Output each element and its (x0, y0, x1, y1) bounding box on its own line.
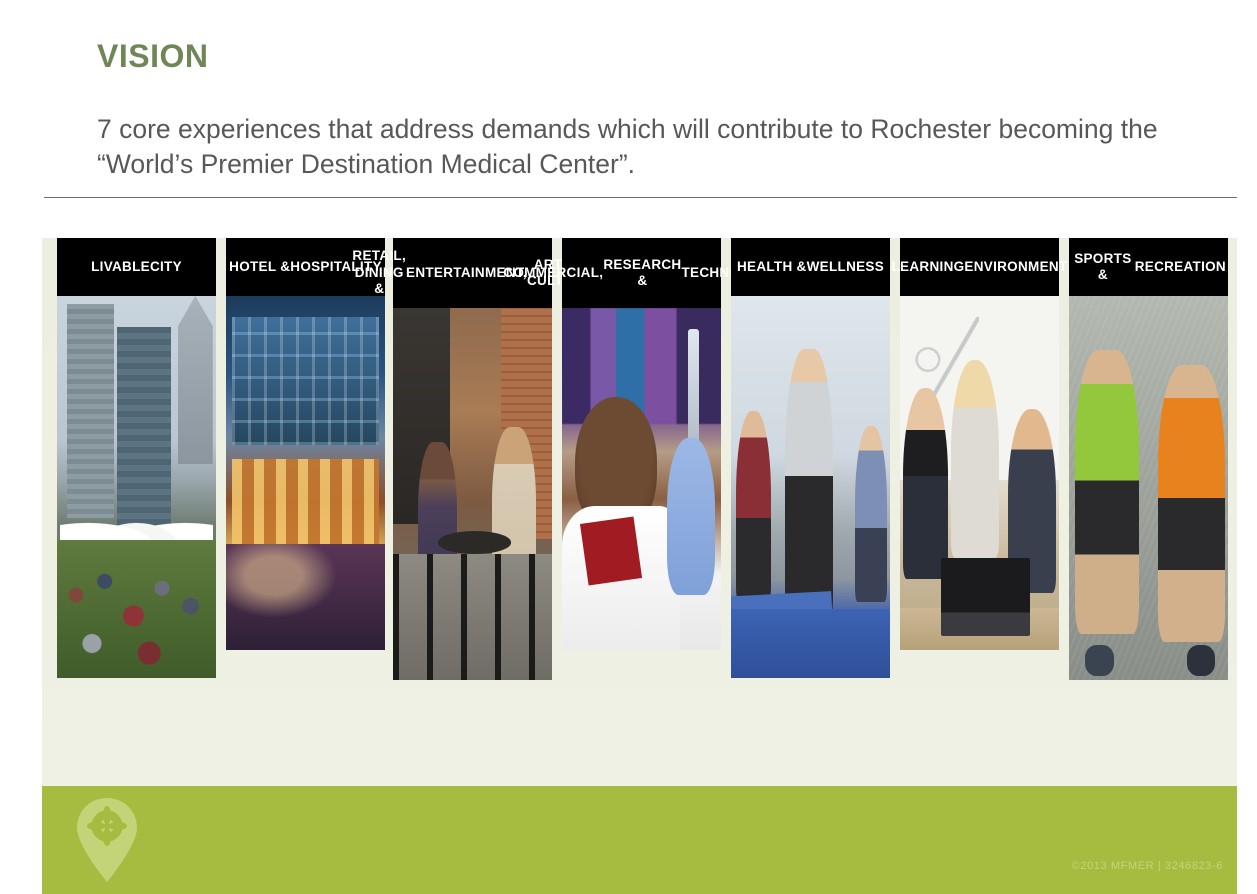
page-subtitle: 7 core experiences that address demands … (97, 112, 1227, 182)
column-header-livable-city: LIVABLE CITY (57, 238, 216, 296)
experience-column-health-wellness[interactable]: HEALTH & WELLNESS (731, 238, 890, 678)
column-label-line-1: HOTEL & (229, 259, 290, 276)
map-pin-flower-logo-icon (74, 796, 140, 884)
experience-column-learning-environment[interactable]: LEARNING ENVIRONMENT (900, 238, 1059, 650)
experience-column-hotel-hospitality[interactable]: HOTEL & HOSPITALITY (226, 238, 385, 650)
experience-column-livable-city[interactable]: LIVABLE CITY (57, 238, 216, 678)
slide-canvas: VISION 7 core experiences that address d… (0, 0, 1257, 894)
column-label-line-1: LEARNING (892, 259, 965, 276)
column-image-livable-city (57, 296, 216, 678)
column-image-health-wellness (731, 296, 890, 678)
column-label-line-2: RESEARCH & (603, 257, 681, 290)
header-block: VISION 7 core experiences that address d… (0, 0, 1257, 200)
vision-panel: LIVABLE CITY HOTEL & HOSPITALITY (42, 238, 1237, 786)
header-divider-rule (44, 197, 1237, 198)
column-label-line-2: WELLNESS (807, 259, 884, 276)
experience-column-commercial-research[interactable]: COMMERCIAL, RESEARCH & TECHNOLOGY (562, 238, 721, 650)
copyright-credit: ©2013 MFMER | 3246823-6 (1072, 860, 1223, 872)
column-label-line-2: ENVIRONMENT (964, 259, 1067, 276)
column-label-line-1: LIVABLE (91, 259, 150, 276)
column-label-line-2: RECREATION (1135, 259, 1226, 276)
column-header-sports-recreation: SPORTS & RECREATION (1069, 238, 1228, 296)
column-image-sports-recreation (1069, 296, 1228, 680)
column-label-line-1: HEALTH & (737, 259, 807, 276)
column-header-learning-environment: LEARNING ENVIRONMENT (900, 238, 1059, 296)
column-label-line-2: CITY (150, 259, 182, 276)
experience-column-retail-dining[interactable]: RETAIL, DINING & ENTERTAINMENT, ARTS & C… (393, 238, 552, 680)
experience-column-sports-recreation[interactable]: SPORTS & RECREATION (1069, 238, 1228, 680)
column-label-line-1: SPORTS & (1071, 251, 1135, 284)
column-header-health-wellness: HEALTH & WELLNESS (731, 238, 890, 296)
column-label-line-1: COMMERCIAL, (503, 265, 603, 282)
column-image-retail-dining (393, 308, 552, 680)
column-header-commercial-research: COMMERCIAL, RESEARCH & TECHNOLOGY (562, 238, 721, 308)
experience-columns: LIVABLE CITY HOTEL & HOSPITALITY (42, 238, 1237, 786)
column-image-learning-environment (900, 296, 1059, 650)
column-image-hotel-hospitality (226, 296, 385, 650)
column-label-line-1: RETAIL, DINING & (352, 248, 406, 298)
footer-bar: ©2013 MFMER | 3246823-6 (42, 786, 1237, 894)
page-title: VISION (97, 38, 208, 75)
column-image-commercial-research (562, 308, 721, 650)
